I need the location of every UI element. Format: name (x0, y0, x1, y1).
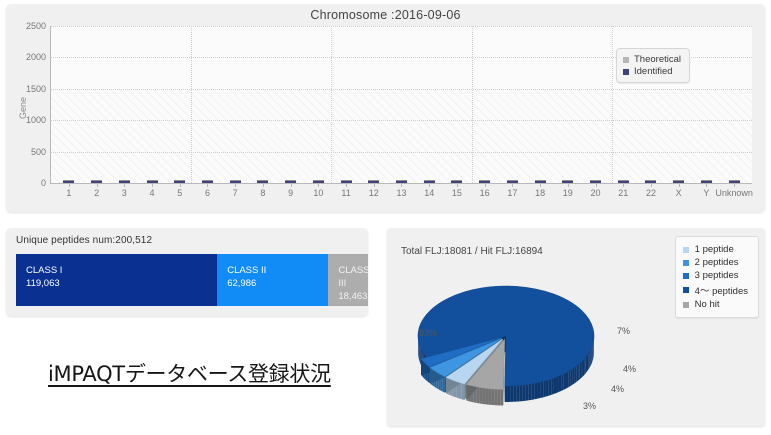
y-tick-label: 2500 (26, 21, 46, 31)
pie-slice-side (568, 370, 570, 387)
x-tick-label: 15 (452, 188, 462, 198)
x-tick-mark (152, 183, 153, 187)
bar-column[interactable]: 19 (554, 26, 582, 183)
bar-column[interactable]: 4 (138, 26, 166, 183)
x-tick-label: 5 (177, 188, 182, 198)
legend-label: 1 peptide (695, 244, 734, 255)
pie-slice-side (576, 365, 578, 382)
bar-column[interactable]: 1 (55, 26, 83, 183)
unique-peptides-panel: Unique peptides num:200,512 CLASS I119,0… (6, 228, 368, 316)
pie-slice-side (476, 387, 479, 404)
pie-slice-side (508, 386, 511, 402)
legend-swatch-icon (683, 287, 689, 293)
x-tick-mark (706, 183, 707, 187)
y-tick-label: 1500 (26, 84, 46, 94)
peptide-class-name: CLASS I (26, 264, 217, 277)
legend-label: 2 peptides (695, 257, 739, 268)
pie-slice-side (529, 384, 532, 400)
x-tick-mark (596, 183, 597, 187)
pie-slice-side (583, 359, 584, 377)
pie-slice-side (588, 352, 589, 370)
bar-column[interactable]: 12 (360, 26, 388, 183)
x-tick-label: 16 (480, 188, 490, 198)
pie-slice-side (549, 379, 552, 396)
pie-slice-side (580, 362, 582, 379)
x-tick-label: 20 (591, 188, 601, 198)
pie-slice-side (592, 346, 593, 364)
x-tick-mark (429, 183, 430, 187)
pie-percent-label: 83% (419, 328, 437, 338)
pie-slice-side (526, 384, 529, 400)
pie-slice-side (500, 389, 503, 405)
x-tick-mark (69, 183, 70, 187)
bar-column[interactable]: 17 (499, 26, 527, 183)
pie-slice-side (543, 381, 546, 398)
pie-slice-side (589, 351, 590, 369)
x-tick-mark (263, 183, 264, 187)
bar-column[interactable]: 6 (194, 26, 222, 183)
pie-slice-side (511, 386, 514, 402)
pie-slice-side (559, 375, 561, 392)
y-tick-label: 2000 (26, 52, 46, 62)
bar-plot-area: 05001000150020002500 1234567891011121314… (50, 26, 752, 184)
x-tick-mark (679, 183, 680, 187)
x-tick-label: Unknown (715, 188, 753, 198)
legend-item[interactable]: Identified (623, 66, 681, 77)
pie-slice-side (535, 383, 538, 400)
bar-column[interactable]: Y (693, 26, 721, 183)
pie-slice-side (419, 344, 420, 362)
bar-column[interactable]: 18 (526, 26, 554, 183)
pie-slice-side (488, 389, 491, 405)
x-tick-mark (291, 183, 292, 187)
pie-slice-side (520, 385, 523, 401)
bar-column[interactable]: 7 (221, 26, 249, 183)
bar-column[interactable]: 14 (415, 26, 443, 183)
bar-column[interactable]: 13 (388, 26, 416, 183)
x-tick-mark (207, 183, 208, 187)
legend-swatch-icon (683, 247, 689, 253)
x-tick-label: 10 (313, 188, 323, 198)
legend-label: No hit (695, 299, 720, 310)
x-tick-label: 8 (260, 188, 265, 198)
pie-slice-side (538, 382, 541, 399)
x-tick-label: Y (703, 188, 709, 198)
pie-slice-side (462, 383, 465, 400)
pie-slice-side (532, 383, 535, 400)
x-tick-mark (651, 183, 652, 187)
pie-slice-side (546, 380, 549, 397)
pie-slice-side (590, 349, 591, 367)
pie-slice-side (592, 344, 593, 362)
pie-slice-side (482, 388, 485, 404)
pie-slice-side (420, 347, 421, 365)
legend-swatch-icon (623, 69, 629, 75)
pie-chart-svg (401, 268, 651, 418)
chart-title: Chromosome :2016-09-06 (6, 8, 765, 22)
x-tick-label: 12 (369, 188, 379, 198)
legend-item[interactable]: 2 peptides (683, 257, 748, 268)
x-tick-label: 18 (535, 188, 545, 198)
pie-slice-side (494, 389, 497, 405)
peptide-class-value: 18,463 (338, 290, 368, 303)
pie-slice-side (586, 356, 587, 374)
legend-label: Theoretical (634, 54, 681, 65)
legend-swatch-icon (623, 57, 629, 63)
pie-chart: 83%7%4%4%3% (401, 268, 651, 418)
pie-slice-side (523, 385, 526, 401)
pie-slice-side (540, 381, 543, 398)
x-tick-label: 14 (424, 188, 434, 198)
x-tick-mark (568, 183, 569, 187)
x-tick-label: X (676, 188, 682, 198)
x-tick-label: 7 (233, 188, 238, 198)
y-tick-label: 1000 (26, 115, 46, 125)
pie-slice-side (551, 378, 554, 395)
bar-column[interactable]: 2 (83, 26, 111, 183)
pie-slice-side (517, 385, 520, 401)
pie-slice-side (584, 357, 585, 375)
legend-swatch-icon (683, 260, 689, 266)
pie-slice-side (485, 388, 488, 404)
pie-slice-side (566, 371, 568, 388)
x-tick-mark (318, 183, 319, 187)
pie-slice-side (572, 367, 574, 384)
legend-swatch-icon (683, 302, 689, 308)
x-tick-mark (180, 183, 181, 187)
x-tick-label: 3 (122, 188, 127, 198)
x-tick-label: 13 (396, 188, 406, 198)
pie-percent-label: 3% (583, 401, 596, 411)
x-tick-mark (124, 183, 125, 187)
x-tick-mark (734, 183, 735, 187)
legend-label: 4〜 peptides (695, 283, 748, 297)
bar-column[interactable]: 16 (471, 26, 499, 183)
pie-slice-side (505, 386, 508, 402)
legend-item[interactable]: 4〜 peptides (683, 283, 748, 297)
pie-slice-side (554, 377, 557, 394)
x-tick-label: 11 (341, 188, 350, 198)
chart-legend: TheoreticalIdentified (616, 48, 690, 83)
pie-slice-side (491, 389, 494, 405)
bar-column[interactable]: 10 (304, 26, 332, 183)
x-tick-mark (623, 183, 624, 187)
pie-legend: 1 peptide2 peptides3 peptides4〜 peptides… (675, 236, 759, 318)
x-tick-label: 6 (205, 188, 210, 198)
pie-slice-side (564, 373, 566, 390)
bar-column[interactable]: 15 (443, 26, 471, 183)
pie-slice-side (420, 346, 421, 364)
x-tick-label: 21 (618, 188, 628, 198)
flj-pie-panel: Total FLJ:18081 / Hit FLJ:16894 83%7%4%4… (387, 228, 765, 426)
x-tick-label: 17 (507, 188, 517, 198)
x-tick-label: 9 (288, 188, 293, 198)
legend-label: Identified (634, 66, 673, 77)
x-tick-mark (235, 183, 236, 187)
legend-item[interactable]: No hit (683, 299, 748, 310)
page-caption: iMPAQTデータベース登録状況 (48, 358, 331, 388)
pie-percent-label: 4% (611, 384, 624, 394)
x-tick-mark (485, 183, 486, 187)
pie-slice-side (479, 387, 482, 403)
x-tick-mark (374, 183, 375, 187)
x-tick-mark (540, 183, 541, 187)
peptide-class-segment[interactable]: CLASS II62,986 (217, 254, 328, 306)
bar-column[interactable]: 11 (332, 26, 360, 183)
legend-swatch-icon (683, 273, 689, 279)
pie-slice-side (497, 389, 500, 405)
x-tick-label: 4 (150, 188, 155, 198)
y-tick-label: 500 (31, 147, 46, 157)
bar-column[interactable]: 20 (582, 26, 610, 183)
x-tick-mark (97, 183, 98, 187)
pie-percent-label: 7% (617, 326, 630, 336)
peptide-class-value: 62,986 (227, 277, 328, 290)
pie-slice-side (561, 374, 563, 391)
pie-slice-side (570, 369, 572, 386)
peptide-class-segment[interactable]: CLASS III18,463 (328, 254, 368, 306)
x-tick-mark (512, 183, 513, 187)
x-tick-label: 22 (646, 188, 656, 198)
peptide-class-name: CLASS III (338, 264, 368, 290)
flj-pie-title: Total FLJ:18081 / Hit FLJ:16894 (401, 246, 543, 257)
bar-column[interactable]: 8 (249, 26, 277, 183)
y-tick-label: 0 (41, 178, 46, 188)
pie-slice-side (459, 382, 462, 399)
legend-item[interactable]: 3 peptides (683, 270, 748, 281)
legend-item[interactable]: 1 peptide (683, 244, 748, 255)
pie-slice-side (574, 366, 576, 383)
peptide-class-name: CLASS II (227, 264, 328, 277)
pie-slice-side (591, 347, 592, 365)
bar-column[interactable]: 9 (277, 26, 305, 183)
bar-column[interactable]: 3 (110, 26, 138, 183)
pie-slice-side (514, 386, 517, 402)
bar-column[interactable]: Unknown (720, 26, 748, 183)
unique-peptides-title: Unique peptides num:200,512 (16, 235, 152, 246)
x-tick-label: 19 (563, 188, 573, 198)
pie-percent-label: 4% (623, 364, 636, 374)
pie-slice-side (556, 376, 558, 393)
chromosome-chart-panel: Chromosome :2016-09-06 Gene 050010001500… (6, 4, 765, 212)
x-tick-label: 2 (94, 188, 99, 198)
pie-slice-side (578, 363, 580, 380)
x-tick-mark (346, 183, 347, 187)
peptide-class-bar: CLASS I119,063CLASS II62,986CLASS III18,… (16, 254, 368, 306)
bar-column[interactable]: 5 (166, 26, 194, 183)
x-tick-label: 1 (66, 188, 71, 198)
legend-item[interactable]: Theoretical (623, 54, 681, 65)
pie-slice-side (581, 360, 583, 378)
legend-label: 3 peptides (695, 270, 739, 281)
x-tick-mark (457, 183, 458, 187)
peptide-class-value: 119,063 (26, 277, 217, 290)
pie-slice-side (587, 354, 588, 372)
x-tick-mark (401, 183, 402, 187)
peptide-class-segment[interactable]: CLASS I119,063 (16, 254, 217, 306)
